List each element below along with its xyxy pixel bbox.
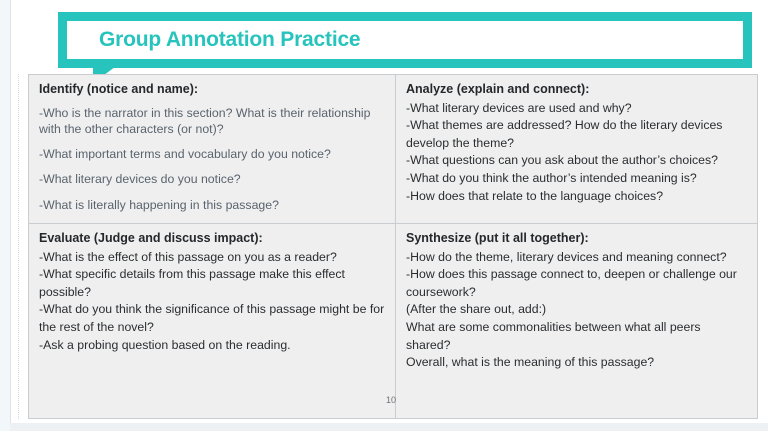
cell-body-identify: -Who is the narrator in this section? Wh… — [39, 105, 385, 213]
cell-line: -What important terms and vocabulary do … — [39, 146, 385, 162]
cell-heading-analyze: Analyze (explain and connect): — [406, 82, 747, 98]
cell-line: -How do the theme, literary devices and … — [406, 249, 747, 267]
title-speech-bubble: Group Annotation Practice — [58, 12, 752, 68]
table-cell-evaluate: Evaluate (Judge and discuss impact): -Wh… — [29, 224, 396, 418]
cell-heading-synthesize: Synthesize (put it all together): — [406, 231, 747, 247]
page-title: Group Annotation Practice — [99, 28, 360, 52]
cell-line: -How does that relate to the language ch… — [406, 188, 747, 206]
cell-line: -How does this passage connect to, deepe… — [406, 266, 747, 301]
title-bubble-inner: Group Annotation Practice — [67, 21, 743, 59]
cell-line: -What is literally happening in this pas… — [39, 197, 385, 213]
table-cell-identify: Identify (notice and name): -Who is the … — [29, 75, 396, 223]
cell-body-synthesize: -How do the theme, literary devices and … — [406, 249, 747, 372]
slide-root: Group Annotation Practice Identify (noti… — [0, 0, 768, 431]
cell-line: -Who is the narrator in this section? Wh… — [39, 105, 385, 137]
annotation-practice-table: Identify (notice and name): -Who is the … — [28, 74, 758, 419]
table-cell-analyze: Analyze (explain and connect): -What lit… — [396, 75, 757, 223]
cell-line: -What do you think the author’s intended… — [406, 170, 747, 188]
cell-line: -What do you think the significance of t… — [39, 301, 385, 336]
cell-line: Overall, what is the meaning of this pas… — [406, 354, 747, 372]
table-row: Identify (notice and name): -Who is the … — [29, 75, 757, 223]
slide-number: 10 — [386, 396, 396, 405]
cell-line: -Ask a probing question based on the rea… — [39, 337, 385, 355]
cell-body-evaluate: -What is the effect of this passage on y… — [39, 249, 385, 354]
cell-line: -What themes are addressed? How do the l… — [406, 117, 747, 152]
cell-heading-evaluate: Evaluate (Judge and discuss impact): — [39, 231, 385, 247]
table-cell-synthesize: Synthesize (put it all together): -How d… — [396, 224, 757, 418]
slide-bottom-band — [10, 423, 768, 431]
table-row: Evaluate (Judge and discuss impact): -Wh… — [29, 223, 757, 418]
cell-line: (After the share out, add:) — [406, 301, 747, 319]
cell-line: -What is the effect of this passage on y… — [39, 249, 385, 267]
left-margin-guide — [18, 74, 19, 419]
cell-body-analyze: -What literary devices are used and why?… — [406, 100, 747, 205]
cell-line: What are some commonalities between what… — [406, 319, 747, 354]
cell-heading-identify: Identify (notice and name): — [39, 82, 385, 98]
cell-line: -What specific details from this passage… — [39, 266, 385, 301]
cell-line: -What questions can you ask about the au… — [406, 152, 747, 170]
workspace-left-strip — [0, 0, 10, 431]
cell-line: -What literary devices are used and why? — [406, 100, 747, 118]
cell-line: -What literary devices do you notice? — [39, 171, 385, 187]
